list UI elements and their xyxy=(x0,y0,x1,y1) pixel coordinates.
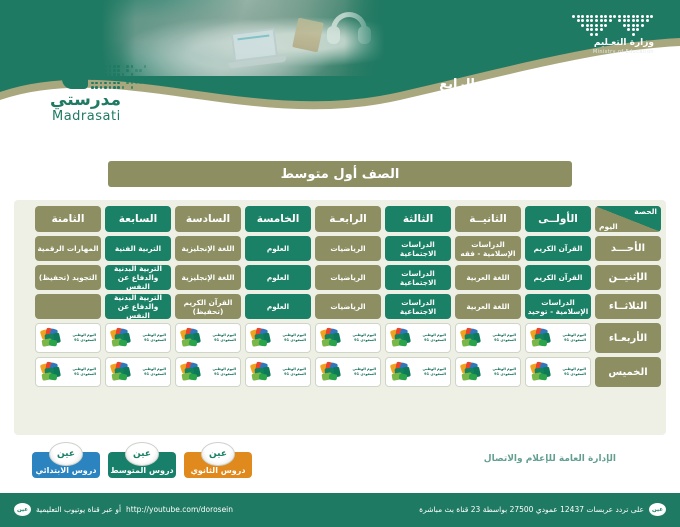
national-day-logo-text: اليوم الوطني السعودي 91 xyxy=(409,367,446,376)
national-day-logo-text: اليوم الوطني السعودي 91 xyxy=(199,367,236,376)
table-header-row: الحصةاليومالأولــىالثانيــةالثالثةالرابع… xyxy=(19,206,661,232)
schedule-cell-logo: اليوم الوطني السعودي 91 xyxy=(175,323,241,353)
saudi-map-icon xyxy=(110,328,127,348)
schedule-cell: الدراسات الاجتماعية xyxy=(385,294,451,319)
ain-badge-secondary[interactable]: عيندروس الثانوي xyxy=(184,452,252,478)
day-label-2: الإثنيــن xyxy=(595,265,661,290)
schedule-cell: الرياضيات xyxy=(315,265,381,290)
schedule-cell: الدراسات الاجتماعية xyxy=(385,236,451,261)
period-header-5: الخامسة xyxy=(245,206,311,232)
schedule-cell: التربية الفنية xyxy=(105,236,171,261)
ain-icon-satellite: عين xyxy=(649,503,666,516)
saudi-map-icon xyxy=(530,362,547,382)
national-day-logo-text: اليوم الوطني السعودي 91 xyxy=(129,367,166,376)
saudi-map-icon xyxy=(180,328,197,348)
schedule-cell: العلوم xyxy=(245,294,311,319)
schedule-cell: التربية البدنية والدفاع عن النفس xyxy=(105,265,171,290)
period-header-6: السادسة xyxy=(175,206,241,232)
national-day-logo: اليوم الوطني السعودي 91 xyxy=(110,361,166,383)
page-header: وزارة التعـليم Ministry of Education الأ… xyxy=(0,0,680,146)
schedule-cell: اللغة الإنجليزية xyxy=(175,265,241,290)
national-day-logo: اليوم الوطني السعودي 91 xyxy=(390,361,446,383)
national-day-logo: اليوم الوطني السعودي 91 xyxy=(530,361,586,383)
table-row: الإثنيــنالقرآن الكريماللغة العربيةالدرا… xyxy=(19,265,661,290)
schedule-cell-logo: اليوم الوطني السعودي 91 xyxy=(315,357,381,387)
header-week-block: الأسبوع الرابع الفصل الأول 1443هـ xyxy=(394,76,574,112)
schedule-cell: التربية البدنية والدفاع عن النفس xyxy=(105,294,171,319)
badge-label: دروس المتوسط xyxy=(110,466,173,475)
period-header-2: الثانيــة xyxy=(455,206,521,232)
national-day-logo-text: اليوم الوطني السعودي 91 xyxy=(479,367,516,376)
schedule-cell-logo: اليوم الوطني السعودي 91 xyxy=(525,323,591,353)
table-row: الخميساليوم الوطني السعودي 91اليوم الوطن… xyxy=(19,357,661,387)
national-day-logo-text: اليوم الوطني السعودي 91 xyxy=(59,333,96,342)
satellite-info: عين على تردد عربسات 12437 عمودي 27500 بو… xyxy=(419,503,666,516)
schedule-cell: اللغة العربية xyxy=(455,294,521,319)
national-day-logo: اليوم الوطني السعودي 91 xyxy=(320,327,376,349)
national-day-logo-text: اليوم الوطني السعودي 91 xyxy=(339,367,376,376)
saudi-map-icon xyxy=(530,328,547,348)
schedule-cell: العلوم xyxy=(245,265,311,290)
national-day-logo: اليوم الوطني السعودي 91 xyxy=(110,327,166,349)
schedule-cell: اللغة الإنجليزية xyxy=(175,236,241,261)
saudi-map-icon xyxy=(390,362,407,382)
national-day-logo: اليوم الوطني السعودي 91 xyxy=(40,327,96,349)
ain-icon-youtube: عين xyxy=(14,503,31,516)
schedule-cell: القرآن الكريم xyxy=(525,265,591,290)
saudi-map-icon xyxy=(460,362,477,382)
national-day-logo-text: اليوم الوطني السعودي 91 xyxy=(269,333,306,342)
schedule-cell-logo: اليوم الوطني السعودي 91 xyxy=(105,323,171,353)
saudi-map-icon xyxy=(40,328,57,348)
schedule-page: وزارة التعـليم Ministry of Education الأ… xyxy=(0,0,680,527)
national-day-logo: اليوم الوطني السعودي 91 xyxy=(460,327,516,349)
madrasati-name-en: Madrasati xyxy=(52,109,121,124)
saudi-map-icon xyxy=(390,328,407,348)
schedule-cell: الدراسات الإسلامية - توحيد xyxy=(525,294,591,319)
national-day-logo: اليوم الوطني السعودي 91 xyxy=(460,361,516,383)
madrasati-mark-icon xyxy=(57,62,162,92)
day-label-1: الأحـــد xyxy=(595,236,661,261)
day-axis-label: اليوم xyxy=(599,222,618,231)
schedule-cell: المهارات الرقمية xyxy=(35,236,101,261)
page-footer: عيندروس الثانويعيندروس المتوسطعيندروس ال… xyxy=(0,440,680,493)
schedule-cell: القرآن الكريم (تحفيظ) xyxy=(175,294,241,319)
schedule-cell: العلوم xyxy=(245,236,311,261)
national-day-logo: اليوم الوطني السعودي 91 xyxy=(250,361,306,383)
period-header-1: الأولــى xyxy=(525,206,591,232)
schedule-cell: اللغة العربية xyxy=(455,265,521,290)
schedule-table: الحصةاليومالأولــىالثانيــةالثالثةالرابع… xyxy=(14,200,666,435)
ain-logo-icon: عين xyxy=(49,442,83,466)
table-row: الأربعـاءاليوم الوطني السعودي 91اليوم ال… xyxy=(19,323,661,353)
schedule-cell-logo: اليوم الوطني السعودي 91 xyxy=(105,357,171,387)
ain-badges: عيندروس الثانويعيندروس المتوسطعيندروس ال… xyxy=(32,452,252,478)
day-label-3: الثلاثــاء xyxy=(595,294,661,319)
table-body: الأحـــدالقرآن الكريمالدراسات الإسلامية … xyxy=(19,236,661,387)
national-day-logo-text: اليوم الوطني السعودي 91 xyxy=(549,333,586,342)
saudi-map-icon xyxy=(180,362,197,382)
period-header-4: الرابعـة xyxy=(315,206,381,232)
national-day-logo: اليوم الوطني السعودي 91 xyxy=(180,327,236,349)
ain-logo-icon: عين xyxy=(201,442,235,466)
term-label: الفصل الأول 1443هـ xyxy=(394,94,574,112)
schedule-cell: القرآن الكريم xyxy=(525,236,591,261)
national-day-logo: اليوم الوطني السعودي 91 xyxy=(180,361,236,383)
saudi-map-icon xyxy=(110,362,127,382)
period-axis-label: الحصة xyxy=(634,207,657,216)
national-day-logo-text: اليوم الوطني السعودي 91 xyxy=(409,333,446,342)
saudi-map-icon xyxy=(40,362,57,382)
general-administration-logo: الإدارة العامة للإعلام والاتصال xyxy=(484,454,616,464)
ministry-name-ar: وزارة التعـليم xyxy=(594,38,654,48)
national-day-logo-text: اليوم الوطني السعودي 91 xyxy=(479,333,516,342)
moe-dot-pattern-icon xyxy=(568,12,664,38)
bottom-bar: عين على تردد عربسات 12437 عمودي 27500 بو… xyxy=(0,493,680,527)
grade-title: الصف أول متوسط xyxy=(108,161,572,187)
schedule-cell-logo: اليوم الوطني السعودي 91 xyxy=(385,323,451,353)
ain-logo-icon: عين xyxy=(125,442,159,466)
schedule-cell: الرياضيات xyxy=(315,294,381,319)
national-day-logo-text: اليوم الوطني السعودي 91 xyxy=(269,367,306,376)
ministry-of-education-logo: وزارة التعـليم Ministry of Education xyxy=(568,12,664,60)
schedule-cell: الدراسات الإسلامية - فقه xyxy=(455,236,521,261)
period-header-3: الثالثة xyxy=(385,206,451,232)
national-day-logo: اليوم الوطني السعودي 91 xyxy=(250,327,306,349)
week-label: الأسبوع الرابع xyxy=(394,76,574,94)
schedule-cell-logo: اليوم الوطني السعودي 91 xyxy=(455,357,521,387)
national-day-logo-text: اليوم الوطني السعودي 91 xyxy=(339,333,376,342)
national-day-logo-text: اليوم الوطني السعودي 91 xyxy=(59,367,96,376)
badge-label: دروس الثانوي xyxy=(191,466,246,475)
table-corner-header: الحصةاليوم xyxy=(595,206,661,232)
satellite-text: على تردد عربسات 12437 عمودي 27500 بواسطة… xyxy=(419,505,644,514)
saudi-map-icon xyxy=(460,328,477,348)
schedule-cell-logo: اليوم الوطني السعودي 91 xyxy=(35,323,101,353)
ain-badge-primary[interactable]: عيندروس الابتدائي xyxy=(32,452,100,478)
national-day-logo: اليوم الوطني السعودي 91 xyxy=(320,361,376,383)
schedule-cell-logo: اليوم الوطني السعودي 91 xyxy=(35,357,101,387)
schedule-cell: التجويد (تحفيظ) xyxy=(35,265,101,290)
table-row: الثلاثــاءالدراسات الإسلامية - توحيداللغ… xyxy=(19,294,661,319)
national-day-logo: اليوم الوطني السعودي 91 xyxy=(530,327,586,349)
schedule-cell-logo: اليوم الوطني السعودي 91 xyxy=(245,323,311,353)
schedule-cell-logo: اليوم الوطني السعودي 91 xyxy=(175,357,241,387)
youtube-prefix: أو عبر قناة يوتيوب التعليمية xyxy=(36,505,121,514)
ain-badge-intermediate[interactable]: عيندروس المتوسط xyxy=(108,452,176,478)
national-day-logo: اليوم الوطني السعودي 91 xyxy=(390,327,446,349)
madrasati-name-ar: مدرستي xyxy=(50,90,121,110)
saudi-map-icon xyxy=(320,362,337,382)
ministry-name-en: Ministry of Education xyxy=(593,49,654,55)
schedule-cell: الرياضيات xyxy=(315,236,381,261)
table-row: الأحـــدالقرآن الكريمالدراسات الإسلامية … xyxy=(19,236,661,261)
schedule-cell-logo: اليوم الوطني السعودي 91 xyxy=(245,357,311,387)
national-day-logo: اليوم الوطني السعودي 91 xyxy=(40,361,96,383)
badge-label: دروس الابتدائي xyxy=(36,466,97,475)
saudi-map-icon xyxy=(250,328,267,348)
youtube-url[interactable]: http://youtube.com/dorosein xyxy=(126,505,233,514)
national-day-logo-text: اليوم الوطني السعودي 91 xyxy=(129,333,166,342)
schedule-cell-logo: اليوم الوطني السعودي 91 xyxy=(315,323,381,353)
period-header-7: السابعة xyxy=(105,206,171,232)
national-day-logo-text: اليوم الوطني السعودي 91 xyxy=(199,333,236,342)
schedule-cell xyxy=(35,294,101,319)
madrasati-logo: مدرستي Madrasati xyxy=(42,62,162,124)
national-day-logo-text: اليوم الوطني السعودي 91 xyxy=(549,367,586,376)
saudi-map-icon xyxy=(320,328,337,348)
period-header-8: الثامنة xyxy=(35,206,101,232)
schedule-cell: الدراسات الاجتماعية xyxy=(385,265,451,290)
youtube-info[interactable]: عين أو عبر قناة يوتيوب التعليمية http://… xyxy=(14,503,233,516)
day-label-4: الأربعـاء xyxy=(595,323,661,353)
schedule-cell-logo: اليوم الوطني السعودي 91 xyxy=(385,357,451,387)
schedule-cell-logo: اليوم الوطني السعودي 91 xyxy=(455,323,521,353)
day-label-5: الخميس xyxy=(595,357,661,387)
schedule-cell-logo: اليوم الوطني السعودي 91 xyxy=(525,357,591,387)
saudi-map-icon xyxy=(250,362,267,382)
